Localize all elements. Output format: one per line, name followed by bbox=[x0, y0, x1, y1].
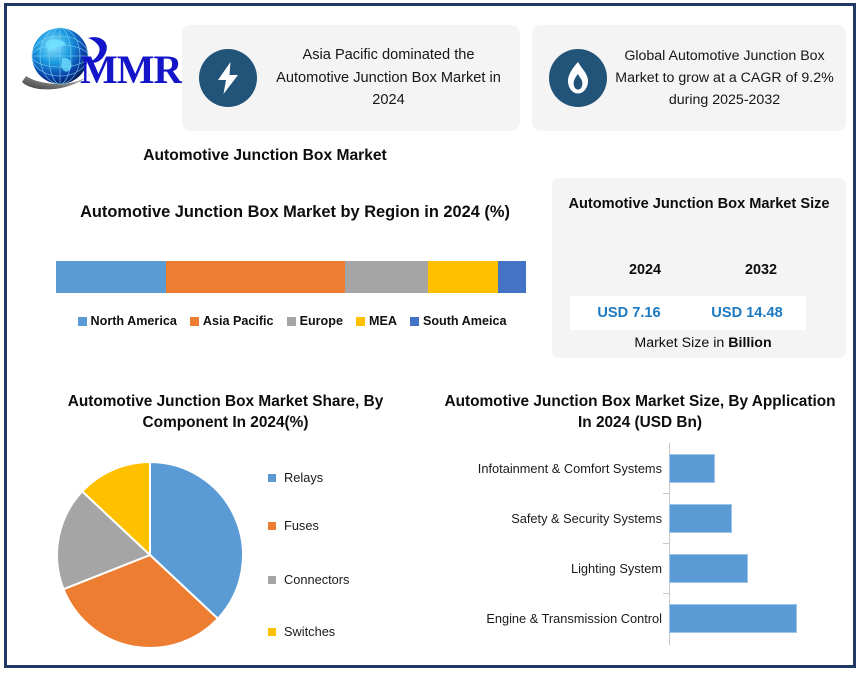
legend-swatch-icon bbox=[287, 317, 296, 326]
application-bar-tick bbox=[663, 543, 669, 544]
region-legend-item: Europe bbox=[287, 314, 343, 328]
market-size-footer: Market Size in Billion bbox=[600, 330, 806, 356]
info-card-cagr: Global Automotive Junction Box Market to… bbox=[532, 25, 846, 131]
application-bar-label: Engine & Transmission Control bbox=[440, 611, 669, 626]
component-pie-legend: RelaysFusesConnectorsSwitches bbox=[268, 466, 408, 646]
legend-swatch-icon bbox=[268, 576, 276, 584]
region-segment bbox=[345, 261, 428, 293]
region-legend-item: South Ameica bbox=[410, 314, 507, 328]
infographic-page: MMR Asia Pacific dominated the Automotiv… bbox=[0, 0, 862, 675]
application-bar-label: Safety & Security Systems bbox=[440, 511, 669, 526]
market-size-heading: Automotive Junction Box Market Size bbox=[566, 194, 832, 215]
application-bar-title: Automotive Junction Box Market Size, By … bbox=[440, 392, 840, 434]
application-bar bbox=[669, 454, 715, 483]
application-bar-label: Infotainment & Comfort Systems bbox=[440, 461, 669, 476]
region-legend-label: North America bbox=[91, 314, 177, 328]
info-card-cagr-text: Global Automotive Junction Box Market to… bbox=[613, 45, 846, 111]
region-legend-label: Asia Pacific bbox=[203, 314, 274, 328]
application-bar bbox=[669, 554, 748, 583]
flame-icon bbox=[549, 49, 607, 107]
pie-legend-label: Switches bbox=[284, 624, 335, 639]
application-bar bbox=[669, 504, 732, 533]
region-segment bbox=[498, 261, 526, 293]
region-segment bbox=[428, 261, 498, 293]
region-chart-legend: North AmericaAsia PacificEuropeMEASouth … bbox=[56, 314, 528, 328]
market-size-year-left: 2024 bbox=[602, 262, 688, 278]
market-size-value-right: USD 14.48 bbox=[688, 296, 806, 330]
pie-legend-item: Relays bbox=[268, 470, 323, 485]
region-stacked-bar bbox=[56, 261, 526, 293]
region-legend-label: South Ameica bbox=[423, 314, 507, 328]
region-legend-label: MEA bbox=[369, 314, 397, 328]
market-size-value-left: USD 7.16 bbox=[570, 296, 688, 330]
component-pie-chart bbox=[55, 460, 245, 650]
info-card-asia-pacific-text: Asia Pacific dominated the Automotive Ju… bbox=[263, 44, 520, 112]
legend-swatch-icon bbox=[268, 474, 276, 482]
page-title: Automotive Junction Box Market bbox=[0, 147, 530, 165]
application-bar-row: Lighting System bbox=[440, 543, 850, 593]
pie-legend-item: Connectors bbox=[268, 572, 349, 587]
pie-legend-label: Relays bbox=[284, 470, 323, 485]
region-legend-item: MEA bbox=[356, 314, 397, 328]
region-chart-title: Automotive Junction Box Market by Region… bbox=[60, 202, 530, 224]
region-segment bbox=[166, 261, 345, 293]
legend-swatch-icon bbox=[78, 317, 87, 326]
application-bar-row: Infotainment & Comfort Systems bbox=[440, 443, 850, 493]
application-bar bbox=[669, 604, 797, 633]
legend-swatch-icon bbox=[190, 317, 199, 326]
application-bar-label: Lighting System bbox=[440, 561, 669, 576]
legend-swatch-icon bbox=[410, 317, 419, 326]
pie-legend-label: Fuses bbox=[284, 518, 319, 533]
pie-legend-item: Fuses bbox=[268, 518, 319, 533]
legend-swatch-icon bbox=[268, 522, 276, 530]
legend-swatch-icon bbox=[356, 317, 365, 326]
region-legend-item: North America bbox=[78, 314, 177, 328]
application-bar-row: Engine & Transmission Control bbox=[440, 593, 850, 643]
mmr-logo: MMR bbox=[16, 24, 186, 100]
application-bar-tick bbox=[663, 593, 669, 594]
info-card-asia-pacific: Asia Pacific dominated the Automotive Ju… bbox=[182, 25, 520, 131]
logo-text: MMR bbox=[80, 50, 181, 90]
region-legend-item: Asia Pacific bbox=[190, 314, 274, 328]
market-size-footer-prefix: Market Size in bbox=[634, 335, 724, 351]
region-segment bbox=[56, 261, 166, 293]
market-size-footer-unit: Billion bbox=[728, 335, 771, 351]
legend-swatch-icon bbox=[268, 628, 276, 636]
application-bar-tick bbox=[663, 493, 669, 494]
application-bar-chart: Infotainment & Comfort SystemsSafety & S… bbox=[440, 443, 850, 645]
pie-legend-item: Switches bbox=[268, 624, 335, 639]
region-legend-label: Europe bbox=[300, 314, 343, 328]
application-bar-row: Safety & Security Systems bbox=[440, 493, 850, 543]
component-pie-title: Automotive Junction Box Market Share, By… bbox=[38, 392, 413, 434]
market-size-year-right: 2032 bbox=[718, 262, 804, 278]
pie-legend-label: Connectors bbox=[284, 572, 349, 587]
market-size-panel: Automotive Junction Box Market Size 2024… bbox=[552, 178, 846, 358]
lightning-bolt-icon bbox=[199, 49, 257, 107]
